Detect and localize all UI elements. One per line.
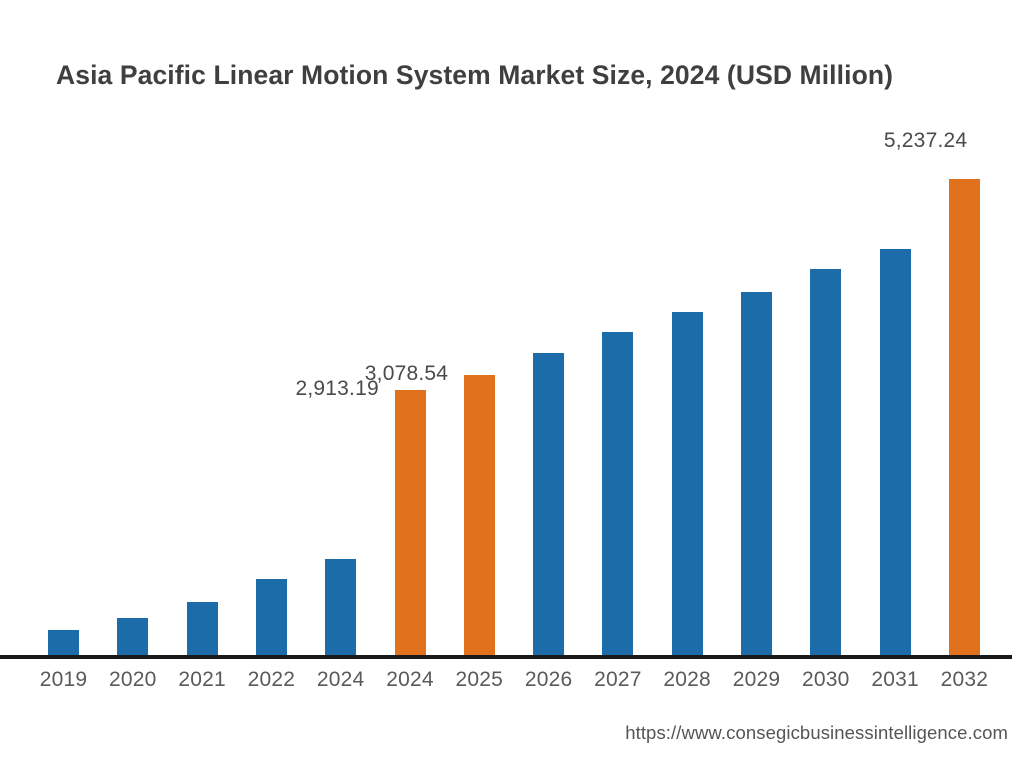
x-tick-label-12: 2031 <box>865 668 925 692</box>
bar-2027-8 <box>602 332 633 655</box>
bar-chart: Asia Pacific Linear Motion System Market… <box>0 0 1024 768</box>
bar-2019-0 <box>48 630 79 655</box>
x-tick-label-7: 2026 <box>519 668 579 692</box>
x-tick-label-4: 2024 <box>311 668 371 692</box>
x-tick-label-13: 2032 <box>934 668 994 692</box>
x-tick-label-11: 2030 <box>796 668 856 692</box>
x-tick-label-8: 2027 <box>588 668 648 692</box>
x-axis-line <box>0 655 1012 659</box>
x-tick-label-5: 2024 <box>380 668 440 692</box>
bar-2032-13 <box>949 179 980 655</box>
x-tick-label-2: 2021 <box>172 668 232 692</box>
source-url-label: https://www.consegicbusinessintelligence… <box>625 722 1008 744</box>
value-label-2032-13: 5,237.24 <box>884 129 967 153</box>
x-tick-label-0: 2019 <box>34 668 94 692</box>
x-tick-label-10: 2029 <box>727 668 787 692</box>
plot-area: 2,913.193,078.545,237.24 <box>0 0 1024 658</box>
bar-2028-9 <box>672 312 703 655</box>
bar-2031-12 <box>880 249 911 655</box>
bar-2029-10 <box>741 292 772 655</box>
x-tick-label-6: 2025 <box>449 668 509 692</box>
bar-2026-7 <box>533 353 564 655</box>
bar-2024-5 <box>395 390 426 655</box>
x-tick-label-1: 2020 <box>103 668 163 692</box>
bar-2024-4 <box>325 559 356 655</box>
bar-2025-6 <box>464 375 495 655</box>
bar-2020-1 <box>117 618 148 655</box>
bar-2021-2 <box>187 602 218 655</box>
value-label-2025-6: 3,078.54 <box>365 362 448 386</box>
bar-2030-11 <box>810 269 841 655</box>
bar-2022-3 <box>256 579 287 655</box>
x-tick-label-9: 2028 <box>657 668 717 692</box>
x-tick-label-3: 2022 <box>241 668 301 692</box>
